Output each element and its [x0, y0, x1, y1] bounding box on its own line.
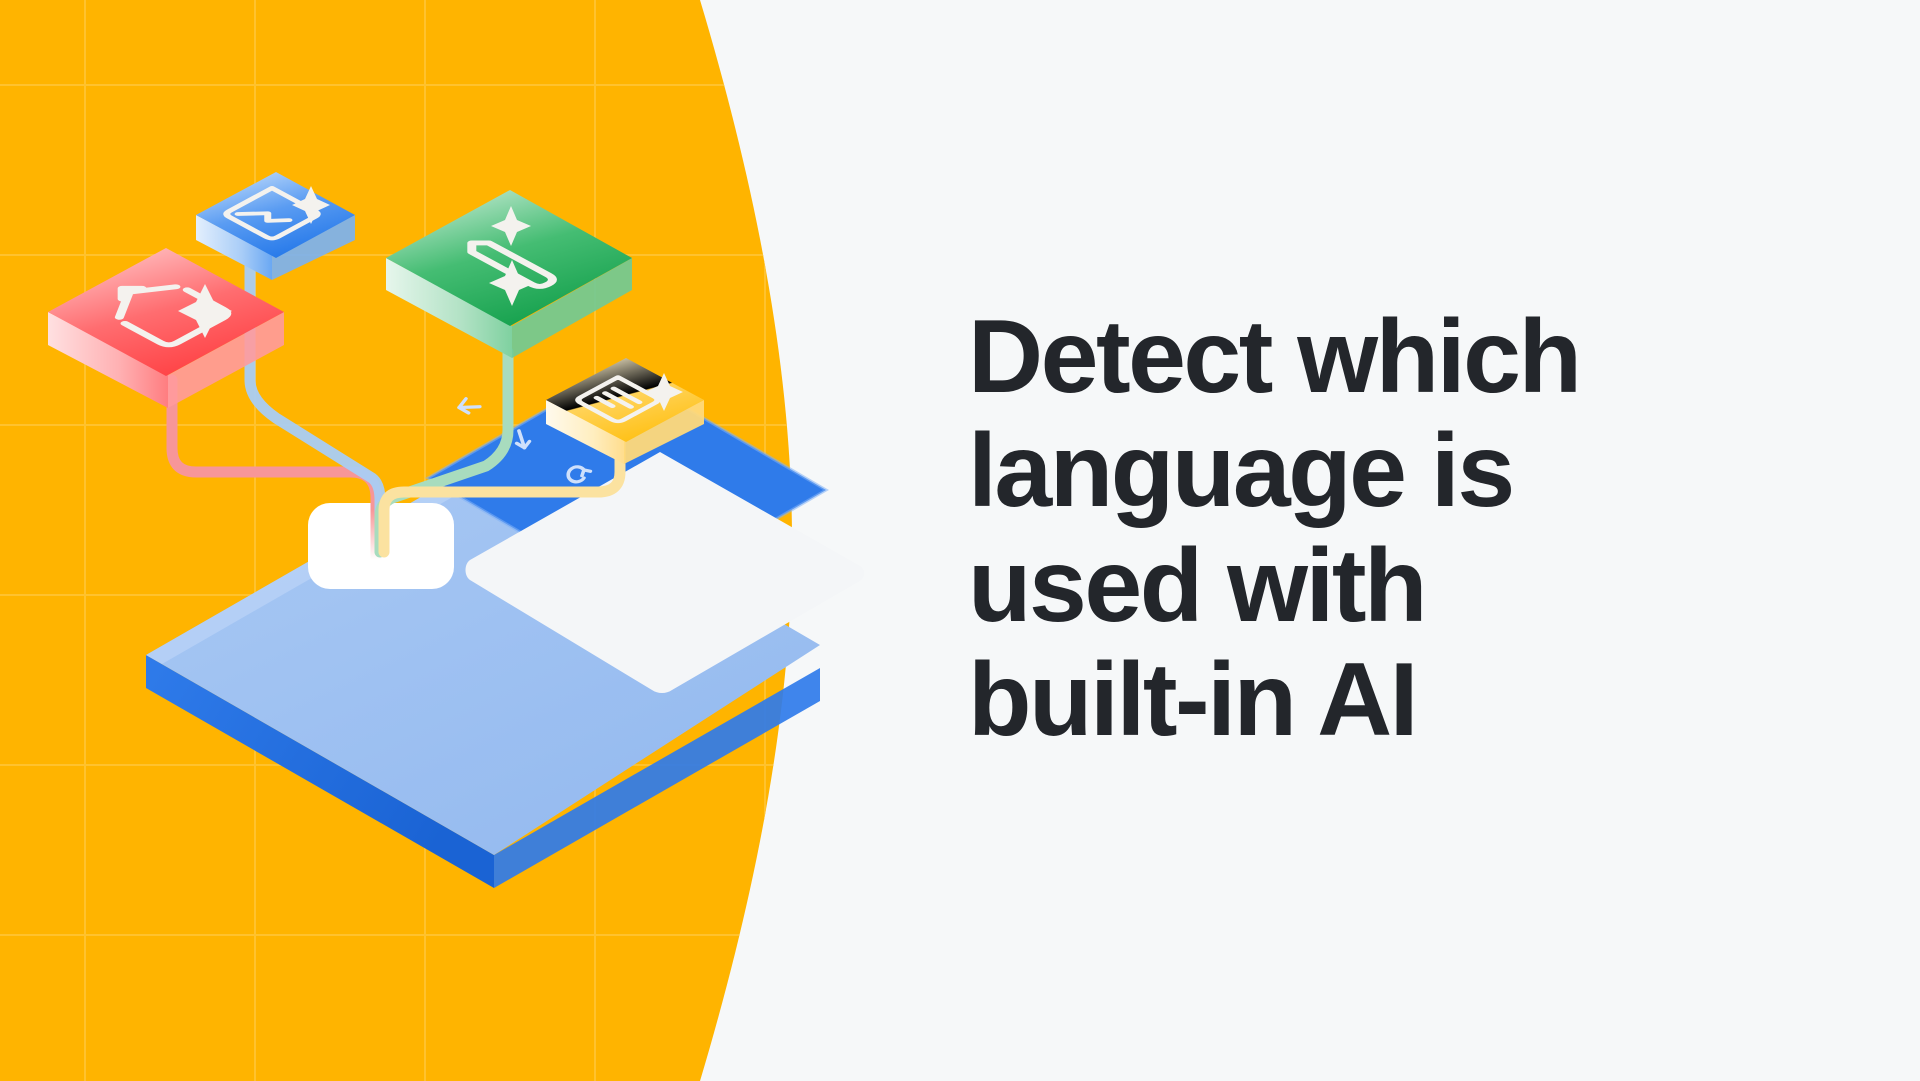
slide-canvas: Detect which language is used with built… — [0, 0, 1920, 1081]
headline-line-2: language is — [968, 414, 1788, 528]
headline-line-1: Detect which — [968, 300, 1788, 414]
page-title: Detect which language is used with built… — [968, 300, 1788, 758]
illustration-svg — [0, 0, 1000, 1081]
illustration — [0, 0, 1000, 1081]
headline-line-4: built-in AI — [968, 643, 1788, 757]
headline-line-3: used with — [968, 529, 1788, 643]
